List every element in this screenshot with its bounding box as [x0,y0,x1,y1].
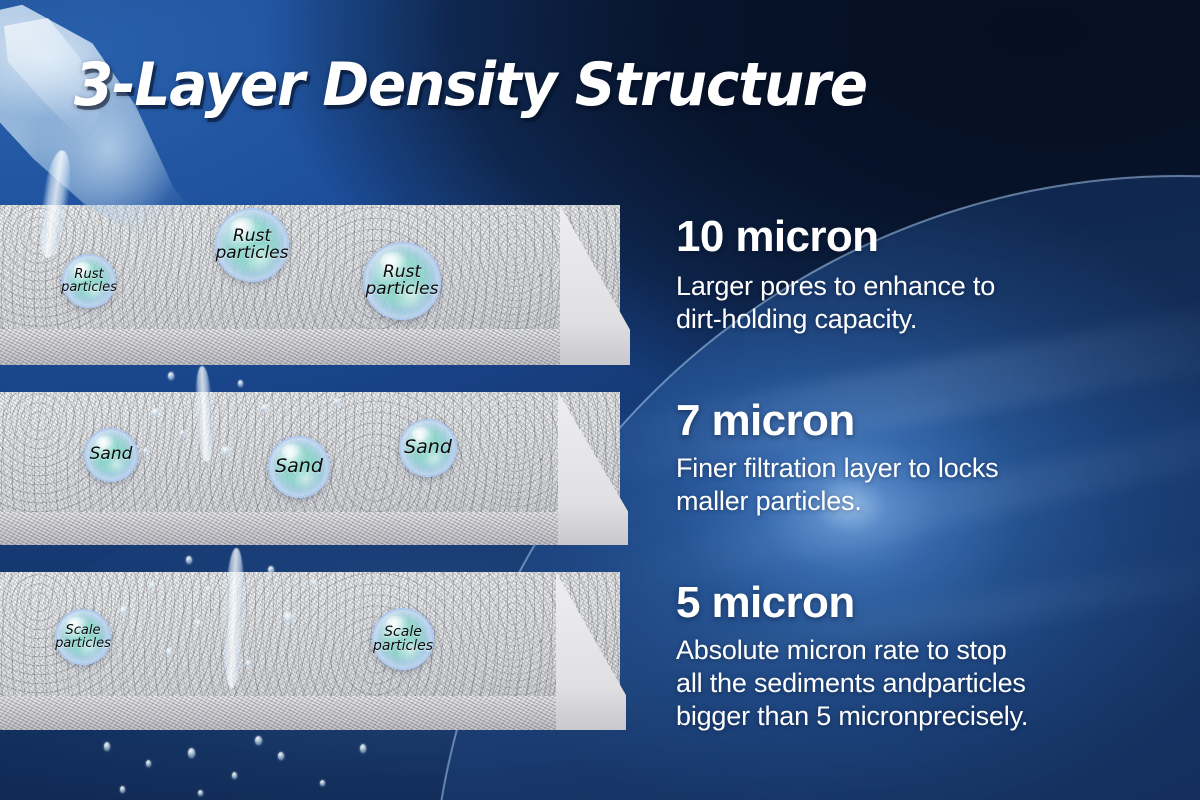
particle-bubble-icon: Rust particles [363,242,441,320]
info-block-5-micron: 5 micron Absolute micron rate to stop al… [676,578,1028,733]
water-droplet-icon [168,372,174,380]
bubble-label: Rust particles [216,228,289,263]
particle-bubble-icon: Sand [84,428,138,482]
micron-description: Larger pores to enhance to dirt-holding … [676,270,995,336]
water-droplet-icon [320,780,325,786]
info-block-7-micron: 7 micron Finer filtration layer to locks… [676,396,998,518]
water-droplet-icon [143,448,148,454]
bubble-label: Sand [404,438,452,458]
water-droplet-icon [180,430,185,436]
page-title: 3-Layer Density Structure [74,54,867,116]
micron-heading: 10 micron [676,212,995,262]
water-droplet-icon [206,586,210,592]
info-block-10-micron: 10 micron Larger pores to enhance to dir… [676,212,995,336]
bubble-label: Sand [90,446,133,464]
water-droplet-icon [360,744,366,753]
bubble-label: Rust particles [61,268,117,295]
water-droplet-icon [255,736,262,745]
water-droplet-icon [222,446,230,456]
bubble-label: Scale particles [55,624,111,651]
bubble-label: Sand [275,457,323,477]
water-droplet-icon [232,772,237,779]
micron-heading: 7 micron [676,396,998,446]
particle-bubble-icon: Rust particles [215,208,289,282]
water-droplet-icon [196,620,201,626]
water-droplet-icon [278,752,284,760]
water-droplet-icon [198,790,203,796]
water-droplet-icon [334,398,339,405]
water-droplet-icon [104,742,110,751]
infographic-canvas: Rust particles Rust particles Rust parti… [0,0,1200,800]
water-droplet-icon [166,648,172,656]
water-droplet-icon [312,580,317,586]
water-droplet-icon [120,786,125,793]
water-droplet-icon [186,556,192,564]
micron-description: Absolute micron rate to stop all the sed… [676,634,1028,733]
water-droplet-icon [120,606,127,615]
particle-bubble-icon: Scale particles [55,609,111,665]
water-droplet-icon [268,566,274,574]
bubble-label: Scale particles [373,625,433,654]
water-droplet-icon [284,612,293,623]
micron-heading: 5 micron [676,578,1028,628]
bubble-label: Rust particles [366,264,439,299]
particle-bubble-icon: Sand [399,419,457,477]
water-droplet-icon [262,404,268,412]
water-droplet-icon [152,408,159,417]
particle-bubble-icon: Scale particles [372,608,434,670]
water-droplet-icon [238,380,243,387]
water-droplet-icon [146,760,151,767]
water-droplet-icon [246,660,251,667]
water-droplet-icon [188,748,195,758]
micron-description: Finer filtration layer to locks maller p… [676,452,998,518]
particle-bubble-icon: Rust particles [62,254,116,308]
water-droplet-icon [150,582,155,589]
particle-bubble-icon: Sand [268,436,330,498]
